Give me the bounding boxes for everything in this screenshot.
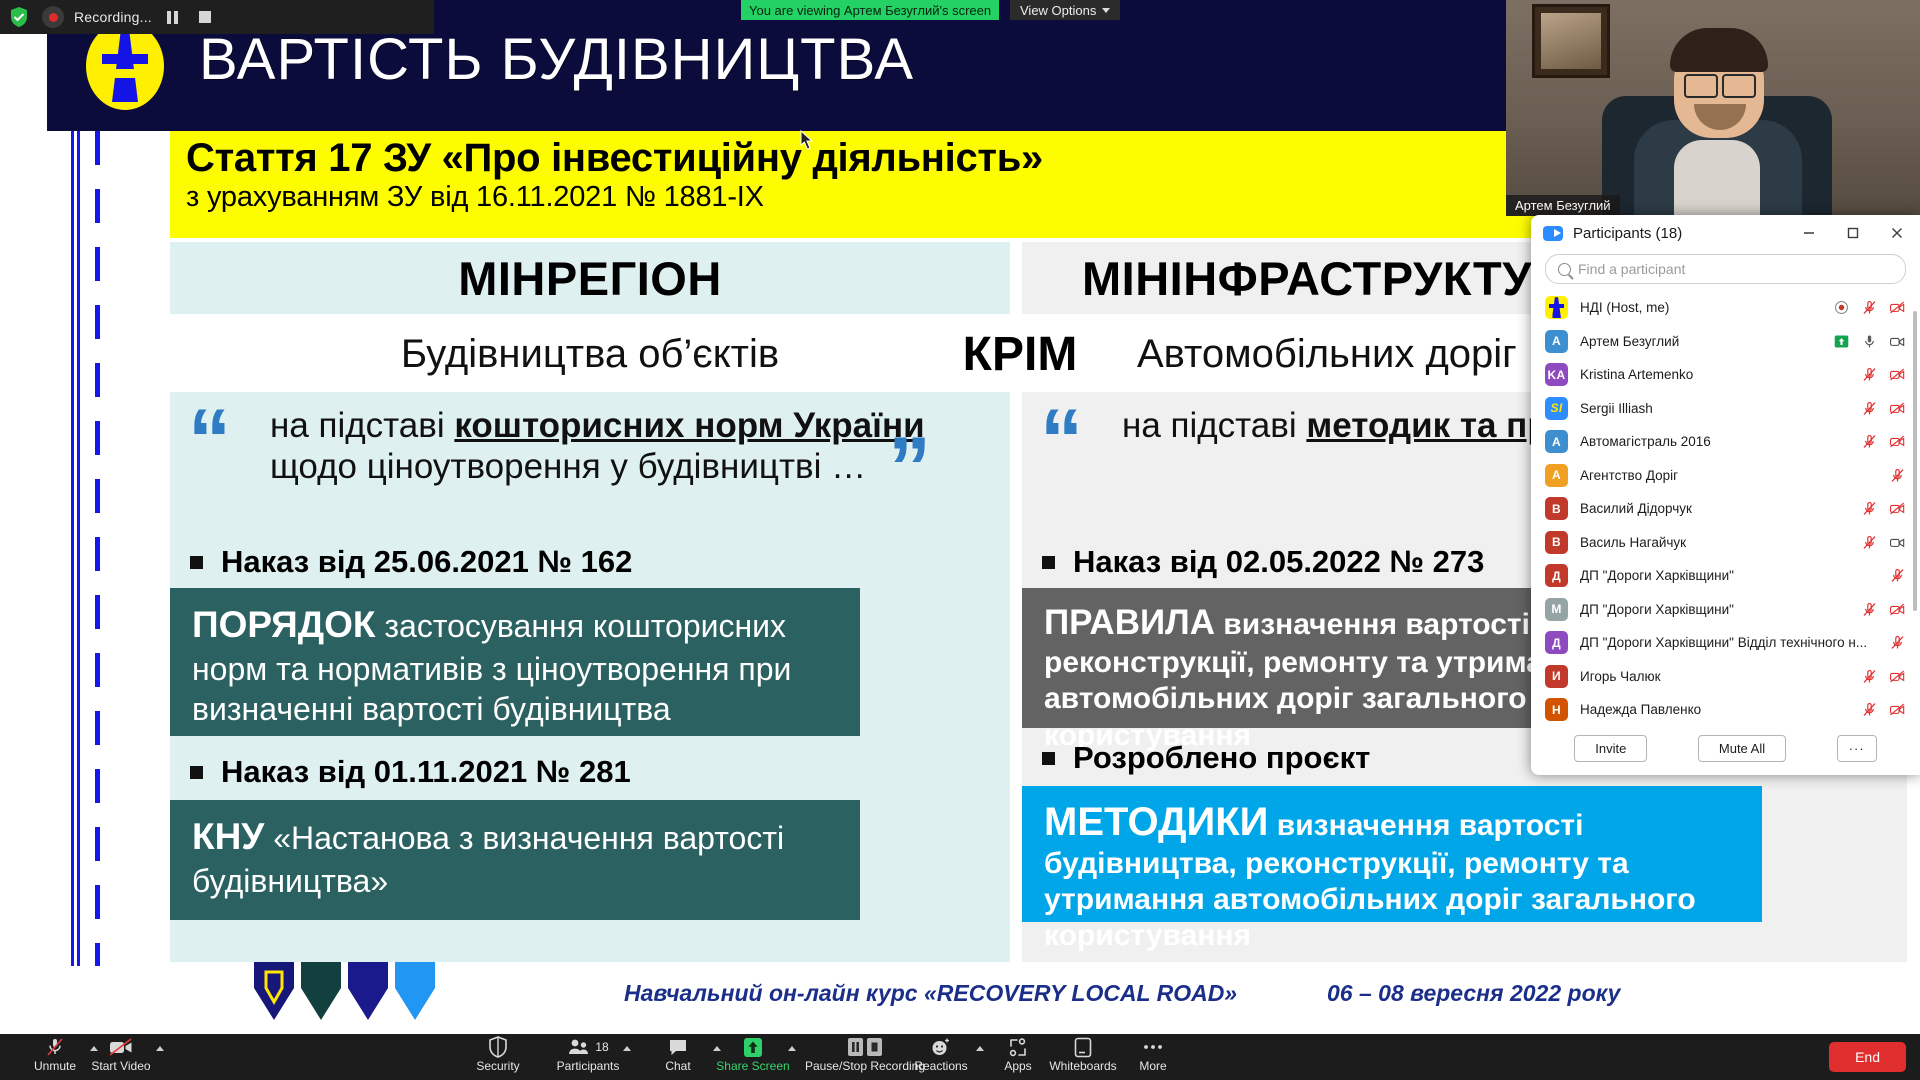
participant-row[interactable]: MДП "Дороги Харківщини" xyxy=(1531,593,1920,627)
participants-count-badge: 18 xyxy=(595,1040,608,1054)
view-options-button[interactable]: View Options xyxy=(1010,0,1120,20)
video-off-icon[interactable] xyxy=(1889,701,1906,718)
chat-icon xyxy=(668,1036,688,1058)
participant-status-icons xyxy=(1861,400,1906,417)
participant-row[interactable]: ДДП "Дороги Харківщини" Відділ технічног… xyxy=(1531,626,1920,660)
speaker-video-tile[interactable]: Артем Безуглий xyxy=(1506,0,1920,216)
mininfra-label: МІНІНФРАСТРУКТУРИ xyxy=(1082,251,1598,306)
toolbar-label: Participants xyxy=(557,1060,620,1073)
zoom-toolbar: UnmuteStart VideoSecurity18ParticipantsC… xyxy=(0,1034,1920,1080)
shield-icon xyxy=(488,1036,508,1058)
search-input[interactable]: Find a participant xyxy=(1545,254,1906,284)
end-meeting-button[interactable]: End xyxy=(1829,1042,1906,1072)
mic-muted-icon[interactable] xyxy=(1861,500,1878,517)
participant-row[interactable]: НДІ (Host, me) xyxy=(1531,291,1920,325)
participant-name: Артем Безуглий xyxy=(1580,334,1821,349)
participant-status-icons xyxy=(1833,333,1906,350)
participant-name: Автомагістраль 2016 xyxy=(1580,434,1849,449)
poryadok-bold: ПОРЯДОК xyxy=(192,604,375,645)
participants-icon: 18 xyxy=(567,1036,608,1058)
column-header-left: МІНРЕГІОН xyxy=(170,242,1010,314)
video-off-icon[interactable] xyxy=(1889,601,1906,618)
search-placeholder: Find a participant xyxy=(1578,261,1685,277)
mic-muted-icon[interactable] xyxy=(1861,534,1878,551)
participant-status-icons xyxy=(1861,500,1906,517)
mic-muted-icon[interactable] xyxy=(1861,366,1878,383)
minimize-icon[interactable] xyxy=(1792,217,1826,249)
video-off-icon[interactable] xyxy=(1889,299,1906,316)
participant-status-icons xyxy=(1861,534,1906,551)
participant-name: Игорь Чалюк xyxy=(1580,669,1849,684)
video-on-icon[interactable] xyxy=(1889,333,1906,350)
footer-course-label: Навчальний он-лайн курс «RECOVERY LOCAL … xyxy=(624,980,1237,1007)
participant-status-icons xyxy=(1861,366,1906,383)
mute-all-button[interactable]: Mute All xyxy=(1698,735,1786,762)
mic-muted-icon[interactable] xyxy=(1861,601,1878,618)
reactions-icon xyxy=(930,1036,952,1058)
participant-row[interactable]: AАгентство Доріг xyxy=(1531,459,1920,493)
viewing-screen-banner: You are viewing Артем Безуглий's screen xyxy=(741,0,999,20)
participants-list[interactable]: НДІ (Host, me)AАртем БезуглийKAKristina … xyxy=(1531,291,1920,721)
order-left-2-text: Наказ від 01.11.2021 № 281 xyxy=(221,754,631,790)
avatar: KA xyxy=(1545,363,1568,386)
whiteboard-icon xyxy=(1074,1036,1092,1058)
recording-label: Recording... xyxy=(74,9,152,25)
video-off-icon[interactable] xyxy=(1889,366,1906,383)
share-screen-badge-icon[interactable] xyxy=(1833,333,1850,350)
knu-box: КНУ «Настанова з визначення вартості буд… xyxy=(170,800,860,920)
wall-picture-frame xyxy=(1532,4,1610,78)
quote-close-icon: ” xyxy=(888,438,931,498)
share-screen-icon xyxy=(743,1036,763,1058)
order-right-1-text: Наказ від 02.05.2022 № 273 xyxy=(1073,544,1484,580)
video-off-icon xyxy=(108,1036,134,1058)
metodyky-box: МЕТОДИКИ визначення вартості будівництва… xyxy=(1022,786,1762,922)
avatar: H xyxy=(1545,698,1568,721)
participant-status-icons xyxy=(1861,433,1906,450)
glasses-icon xyxy=(1684,74,1718,98)
pause-icon[interactable] xyxy=(162,6,184,28)
participants-titlebar: Participants (18) xyxy=(1531,215,1920,251)
participant-row[interactable]: ДДП "Дороги Харківщини" xyxy=(1531,559,1920,593)
more-dots-icon xyxy=(1142,1036,1164,1058)
metodyky-bold: МЕТОДИКИ xyxy=(1044,800,1268,844)
mic-muted-icon[interactable] xyxy=(1861,668,1878,685)
chevron-down-icon xyxy=(1102,8,1110,13)
chevrons-logo-icon xyxy=(252,960,437,1022)
column-left-content: “ на підставі кошторисних норм України щ… xyxy=(170,392,1010,962)
toolbar-button-security[interactable]: Security xyxy=(455,1036,541,1073)
zoom-camera-icon xyxy=(1543,226,1563,241)
video-off-icon[interactable] xyxy=(1889,668,1906,685)
knu-text: «Настанова з визначення вартості будівни… xyxy=(192,820,784,899)
shield-icon xyxy=(6,4,32,30)
participant-name: Василий Дідорчук xyxy=(1580,501,1849,516)
participant-status-icons xyxy=(1889,634,1906,651)
participant-row[interactable]: HНадежда Павленко xyxy=(1531,693,1920,721)
chevron-up-icon[interactable] xyxy=(623,1046,631,1051)
participant-status-icons xyxy=(1861,601,1906,618)
mic-muted-icon[interactable] xyxy=(1861,400,1878,417)
toolbar-label: Start Video xyxy=(91,1060,150,1073)
more-options-button[interactable]: ··· xyxy=(1837,735,1877,762)
order-right-1: Наказ від 02.05.2022 № 273 xyxy=(1042,544,1484,580)
view-options-label: View Options xyxy=(1020,3,1096,18)
toolbar-button-reactions[interactable]: Reactions xyxy=(898,1036,984,1073)
subheader-right-text: Автомобільних доріг xyxy=(1137,332,1517,377)
quote-right-pre: на підставі xyxy=(1122,406,1306,445)
participants-footer: Invite Mute All ··· xyxy=(1531,721,1920,775)
recording-control-bar: Recording... xyxy=(0,0,434,34)
toolbar-button-chat[interactable]: Chat xyxy=(635,1036,721,1073)
participant-name: Sergii Illiash xyxy=(1580,401,1849,416)
participant-row[interactable]: BВасиль Нагайчук xyxy=(1531,526,1920,560)
toolbar-label: Apps xyxy=(1004,1060,1031,1073)
participant-name: Надежда Павленко xyxy=(1580,702,1849,717)
mic-muted-icon[interactable] xyxy=(1861,701,1878,718)
participant-status-icons xyxy=(1889,467,1906,484)
quote-left-post: щодо ціноутворення у будівництві … xyxy=(270,447,866,486)
avatar: B xyxy=(1545,531,1568,554)
order-left-1-text: Наказ від 25.06.2021 № 162 xyxy=(221,544,632,580)
bullet-square-icon xyxy=(190,556,203,569)
bullet-square-icon xyxy=(1042,752,1055,765)
apps-icon xyxy=(1008,1036,1028,1058)
stop-icon[interactable] xyxy=(194,6,216,28)
avatar: A xyxy=(1545,430,1568,453)
search-icon xyxy=(1558,263,1571,276)
participant-row[interactable]: ИИгорь Чалюк xyxy=(1531,660,1920,694)
participant-name: ДП "Дороги Харківщини" xyxy=(1580,602,1849,617)
panel-scrollbar[interactable] xyxy=(1913,311,1917,611)
toolbar-label: Share Screen xyxy=(716,1060,789,1073)
participant-name: ДП "Дороги Харківщини" Відділ технічного… xyxy=(1580,635,1877,650)
subheader-left-text: Будівництва об’єктів xyxy=(401,332,779,377)
participant-name: ДП "Дороги Харківщини" xyxy=(1580,568,1877,583)
slide-footer: Навчальний он-лайн курс «RECOVERY LOCAL … xyxy=(47,966,1920,1035)
quote-open-icon: “ xyxy=(1040,410,1083,470)
highway-badge-icon xyxy=(86,22,164,110)
footer-date-label: 06 – 08 вересня 2022 року xyxy=(1327,980,1620,1007)
krim-separator: КРІМ xyxy=(925,322,1115,386)
mic-muted-icon[interactable] xyxy=(1889,567,1906,584)
avatar: И xyxy=(1545,665,1568,688)
participants-panel-title: Participants (18) xyxy=(1573,225,1782,242)
mic-muted-icon[interactable] xyxy=(1861,299,1878,316)
krim-label: КРІМ xyxy=(963,327,1078,382)
toolbar-label: Unmute xyxy=(34,1060,76,1073)
video-off-icon[interactable] xyxy=(1889,500,1906,517)
video-off-icon[interactable] xyxy=(1889,433,1906,450)
column-subheader-left: Будівництва об’єктів xyxy=(170,322,1010,386)
avatar: SI xyxy=(1545,397,1568,420)
quote-left: на підставі кошторисних норм України щод… xyxy=(270,406,970,487)
mic-muted-icon xyxy=(45,1036,65,1058)
toolbar-button-start-video[interactable]: Start Video xyxy=(78,1036,164,1073)
order-left-2: Наказ від 01.11.2021 № 281 xyxy=(190,754,631,790)
record-dot-icon[interactable] xyxy=(42,6,64,28)
bullet-square-icon xyxy=(190,766,203,779)
mic-on-icon[interactable] xyxy=(1861,333,1878,350)
slide-title: ВАРТІСТЬ БУДІВНИЦТВА xyxy=(199,26,914,93)
participant-row[interactable]: KAKristina Artemenko xyxy=(1531,358,1920,392)
quote-left-pre: на підставі xyxy=(270,406,454,445)
avatar: M xyxy=(1545,598,1568,621)
participant-row[interactable]: BВасилий Дідорчук xyxy=(1531,492,1920,526)
maximize-icon[interactable] xyxy=(1836,217,1870,249)
law-subtitle: з урахуванням ЗУ від 16.11.2021 № 1881-I… xyxy=(186,181,1734,214)
toolbar-label: More xyxy=(1139,1060,1166,1073)
quote-open-icon: “ xyxy=(188,410,231,470)
toolbar-label: Reactions xyxy=(914,1060,967,1073)
record-indicator-icon[interactable] xyxy=(1833,299,1850,316)
avatar xyxy=(1545,296,1568,319)
minregion-label: МІНРЕГІОН xyxy=(458,251,722,306)
participants-panel: Participants (18) Find a participant НДІ… xyxy=(1531,215,1920,775)
participant-row[interactable]: SISergii Illiash xyxy=(1531,392,1920,426)
mic-muted-icon[interactable] xyxy=(1889,634,1906,651)
participant-status-icons xyxy=(1861,701,1906,718)
chevron-up-icon[interactable] xyxy=(788,1046,796,1051)
participant-row[interactable]: AАвтомагістраль 2016 xyxy=(1531,425,1920,459)
mouse-cursor xyxy=(800,130,814,150)
road-stripe-decoration xyxy=(69,131,115,966)
participant-status-icons xyxy=(1889,567,1906,584)
close-icon[interactable] xyxy=(1880,217,1914,249)
law-title: Стаття 17 ЗУ «Про інвестиційну діяльніст… xyxy=(186,137,1734,179)
toolbar-label: Whiteboards xyxy=(1049,1060,1116,1073)
avatar: A xyxy=(1545,330,1568,353)
order-left-1: Наказ від 25.06.2021 № 162 xyxy=(190,544,632,580)
toolbar-button-participants[interactable]: 18Participants xyxy=(545,1036,631,1073)
pravyla-bold: ПРАВИЛА xyxy=(1044,603,1215,642)
poryadok-box: ПОРЯДОК застосування кошторисних норм та… xyxy=(170,588,860,736)
pause-stop-icon xyxy=(847,1036,883,1058)
avatar: B xyxy=(1545,497,1568,520)
toolbar-label: Security xyxy=(476,1060,519,1073)
participant-name: Kristina Artemenko xyxy=(1580,367,1849,382)
knu-bold: КНУ xyxy=(192,816,264,857)
chevron-up-icon[interactable] xyxy=(156,1046,164,1051)
participant-name: Василь Нагайчук xyxy=(1580,535,1849,550)
participant-name: НДІ (Host, me) xyxy=(1580,300,1821,315)
participant-name: Агентство Доріг xyxy=(1580,468,1877,483)
quote-left-bold: кошторисних норм України xyxy=(454,406,924,445)
invite-button[interactable]: Invite xyxy=(1574,735,1647,762)
participant-status-icons xyxy=(1861,668,1906,685)
avatar: A xyxy=(1545,464,1568,487)
participant-status-icons xyxy=(1833,299,1906,316)
avatar: Д xyxy=(1545,631,1568,654)
order-right-2: Розроблено проєкт xyxy=(1042,740,1370,776)
speaker-name-label: Артем Безуглий xyxy=(1506,195,1620,216)
avatar: Д xyxy=(1545,564,1568,587)
mic-muted-icon[interactable] xyxy=(1889,467,1906,484)
video-on-icon[interactable] xyxy=(1889,534,1906,551)
mic-muted-icon[interactable] xyxy=(1861,433,1878,450)
order-right-2-text: Розроблено проєкт xyxy=(1073,740,1370,776)
video-off-icon[interactable] xyxy=(1889,400,1906,417)
toolbar-button-more[interactable]: More xyxy=(1110,1036,1196,1073)
toolbar-button-share-screen[interactable]: Share Screen xyxy=(710,1036,796,1073)
bullet-square-icon xyxy=(1042,556,1055,569)
toolbar-label: Chat xyxy=(665,1060,690,1073)
participant-row[interactable]: AАртем Безуглий xyxy=(1531,325,1920,359)
